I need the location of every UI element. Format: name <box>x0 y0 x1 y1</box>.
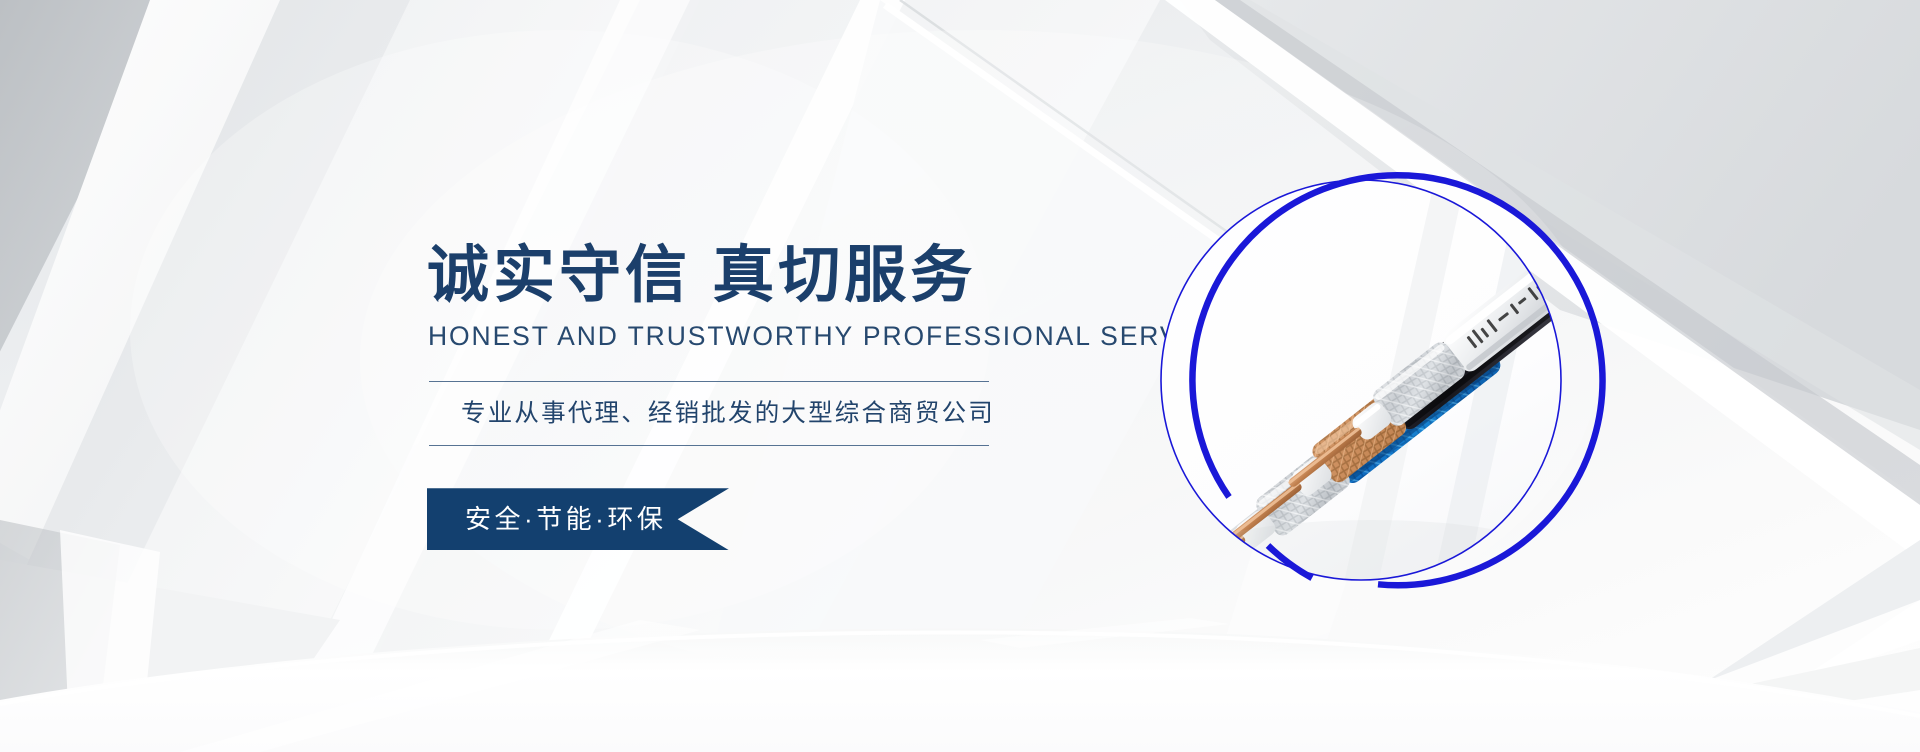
feature-ribbon-badge: 安全·节能·环保 <box>427 488 729 550</box>
hero-banner: 诚实守信 真切服务 HONEST AND TRUSTWORTHY PROFESS… <box>0 0 1920 752</box>
divider-top <box>429 381 989 382</box>
divider-bottom <box>429 445 989 446</box>
page-title: 诚实守信 真切服务 <box>425 243 1065 309</box>
tagline-group: 专业从事代理、经销批发的大型综合商贸公司 <box>425 381 989 447</box>
page-subtitle: HONEST AND TRUSTWORTHY PROFESSIONAL SERV… <box>428 321 1065 352</box>
product-showcase <box>1116 130 1616 640</box>
status-badge: 安全·节能·环保 <box>465 488 666 550</box>
tagline-text: 专业从事代理、经销批发的大型综合商贸公司 <box>429 382 989 446</box>
badge-container: 安全·节能·环保 <box>425 488 1065 555</box>
hero-text-block: 诚实守信 真切服务 HONEST AND TRUSTWORTHY PROFESS… <box>425 243 1065 555</box>
